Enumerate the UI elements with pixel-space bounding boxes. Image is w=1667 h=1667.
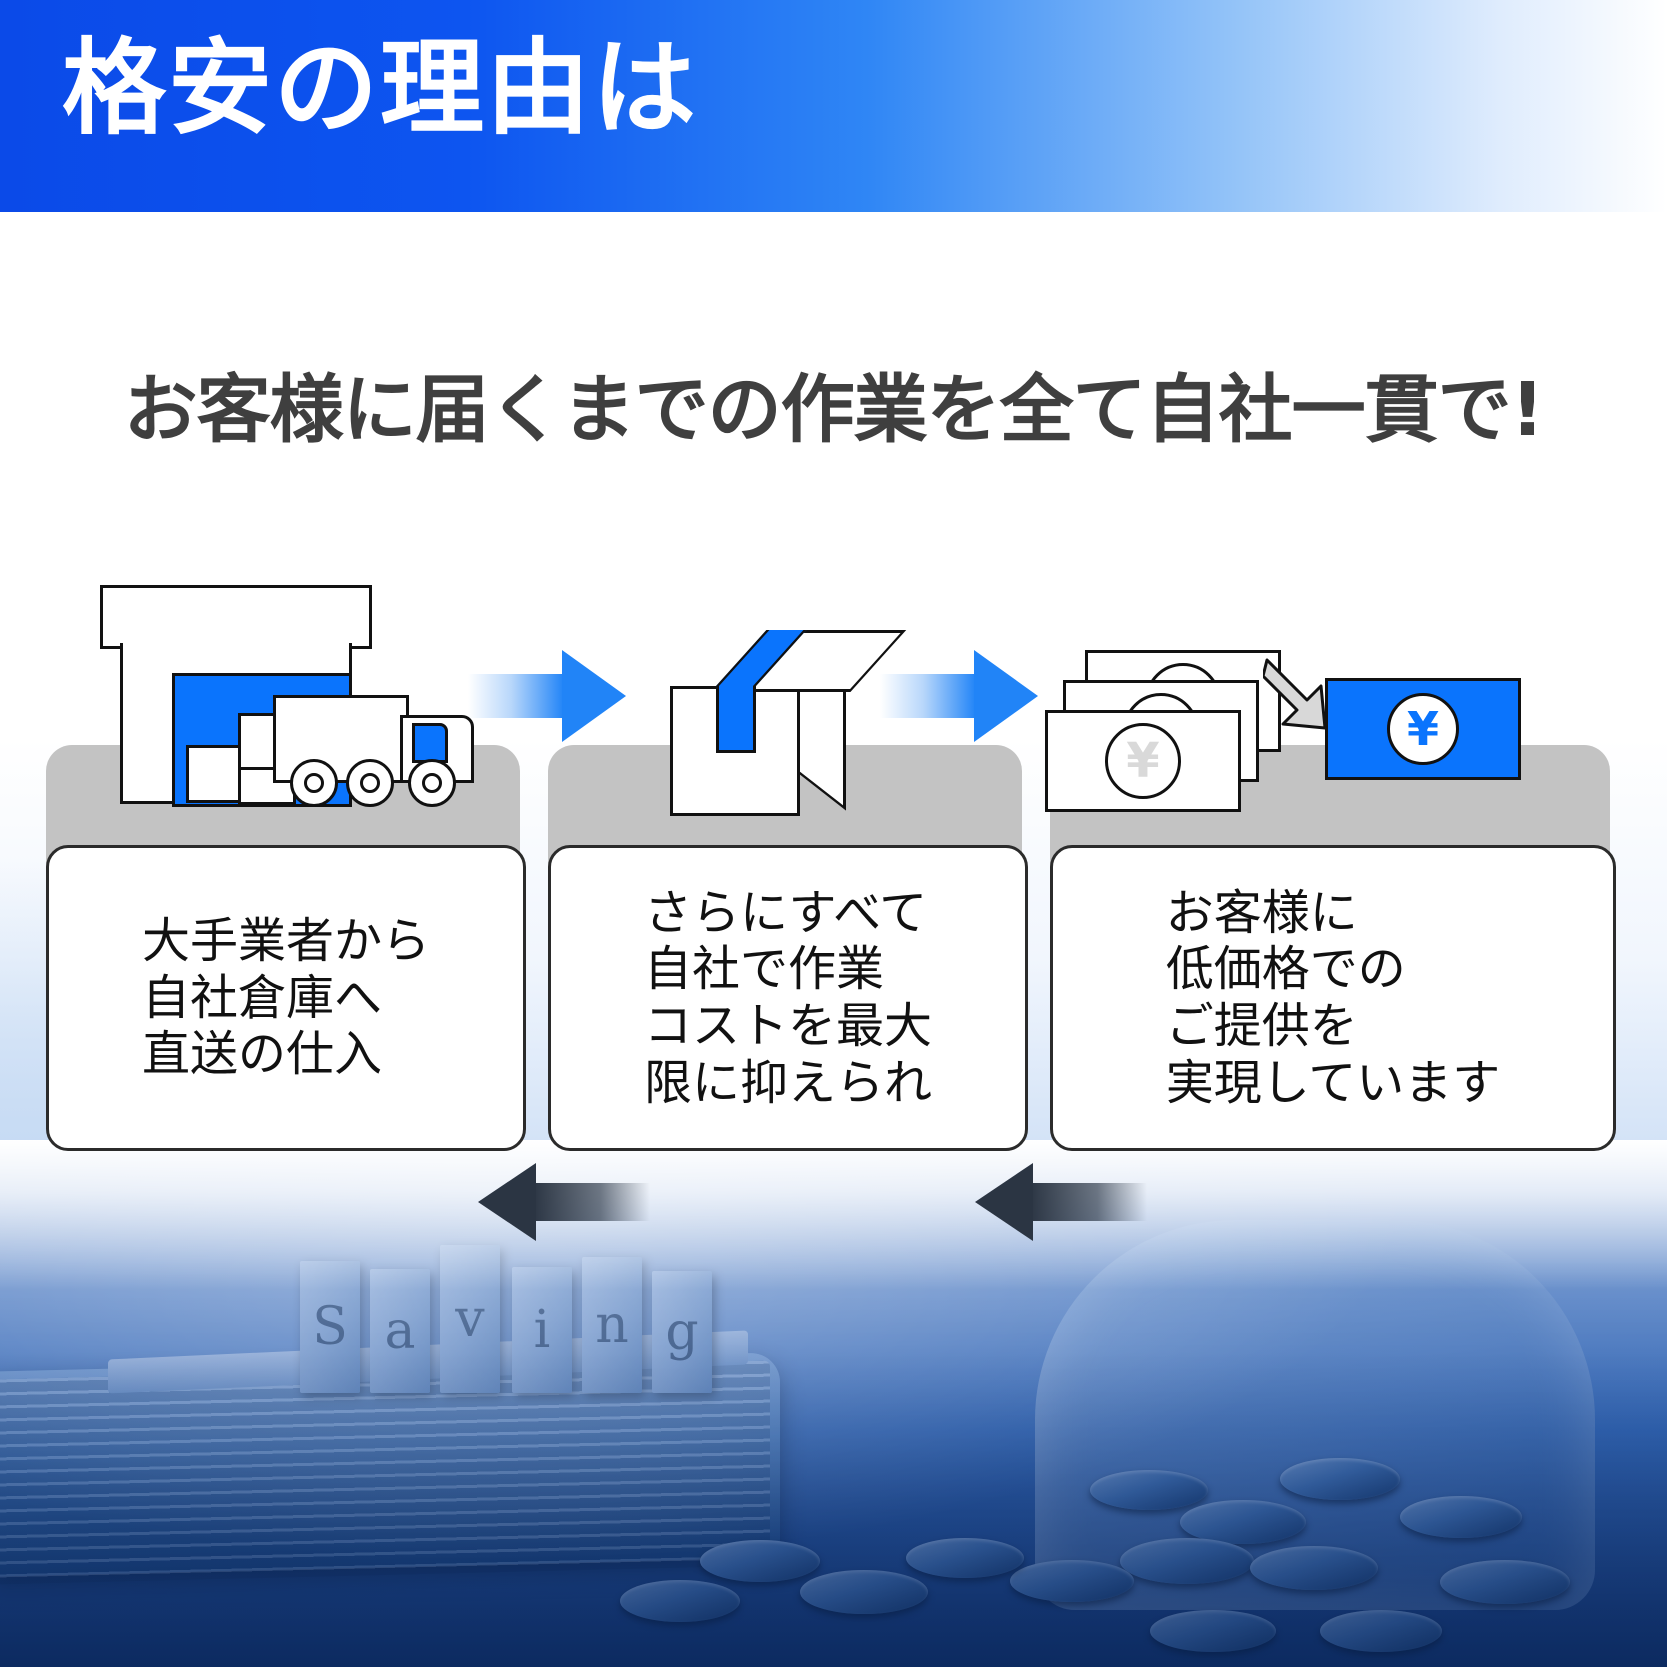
photo-top-fade [0,1140,1667,1290]
yen-symbol: ¥ [1105,723,1181,799]
yen-symbol: ¥ [1387,693,1459,765]
step-card-2-text: さらにすべて 自社で作業 コストを最大 限に抑えられ [644,885,932,1112]
arrow-tail [1029,1183,1147,1221]
cardboard-box-icon [660,630,850,816]
truck-wheel-icon [408,759,456,807]
truck-wheel-icon [290,759,338,807]
arrow-left-icon [478,1163,650,1241]
arrow-head [974,650,1038,742]
warehouse-truck-icon [60,585,460,815]
arrow-head [478,1163,536,1241]
arrow-head [975,1163,1033,1241]
crate-icon [186,745,242,803]
arrow-head [562,650,626,742]
truck-window-icon [412,723,448,763]
blue-bill-icon: ¥ [1325,678,1521,780]
warehouse-roof-icon [100,585,372,649]
header-banner: 格安の理由は [0,0,1667,212]
box-tape-front [716,686,756,753]
step-card-3: お客様に 低価格での ご提供を 実現しています [1050,845,1616,1151]
arrow-tail [468,674,564,718]
step-card-3-text: お客様に 低価格での ご提供を 実現しています [1166,885,1501,1112]
arrow-tail [880,674,976,718]
background-photo-saving: S a v i n g [0,1140,1667,1667]
subtitle-text: お客様に届くまでの作業を全て自社一貫で! [0,350,1667,457]
arrow-right-icon [468,650,626,742]
step-card-1: 大手業者から 自社倉庫へ 直送の仕入 [46,845,526,1151]
money-bills-icon: ¥ ¥ ¥ ¥ [1045,640,1565,820]
step-card-1-text: 大手業者から 自社倉庫へ 直送の仕入 [142,913,430,1083]
bill-front-icon: ¥ [1045,710,1241,812]
step-card-2: さらにすべて 自社で作業 コストを最大 限に抑えられ [548,845,1028,1151]
truck-wheel-icon [346,759,394,807]
arrow-tail [532,1183,650,1221]
arrow-right-icon [880,650,1038,742]
page-title: 格安の理由は [62,36,698,140]
arrow-left-icon [975,1163,1147,1241]
infographic-canvas: S a v i n g 格安の理由は お客様に届くまでの作業を全て自社一貫で! [0,0,1667,1667]
